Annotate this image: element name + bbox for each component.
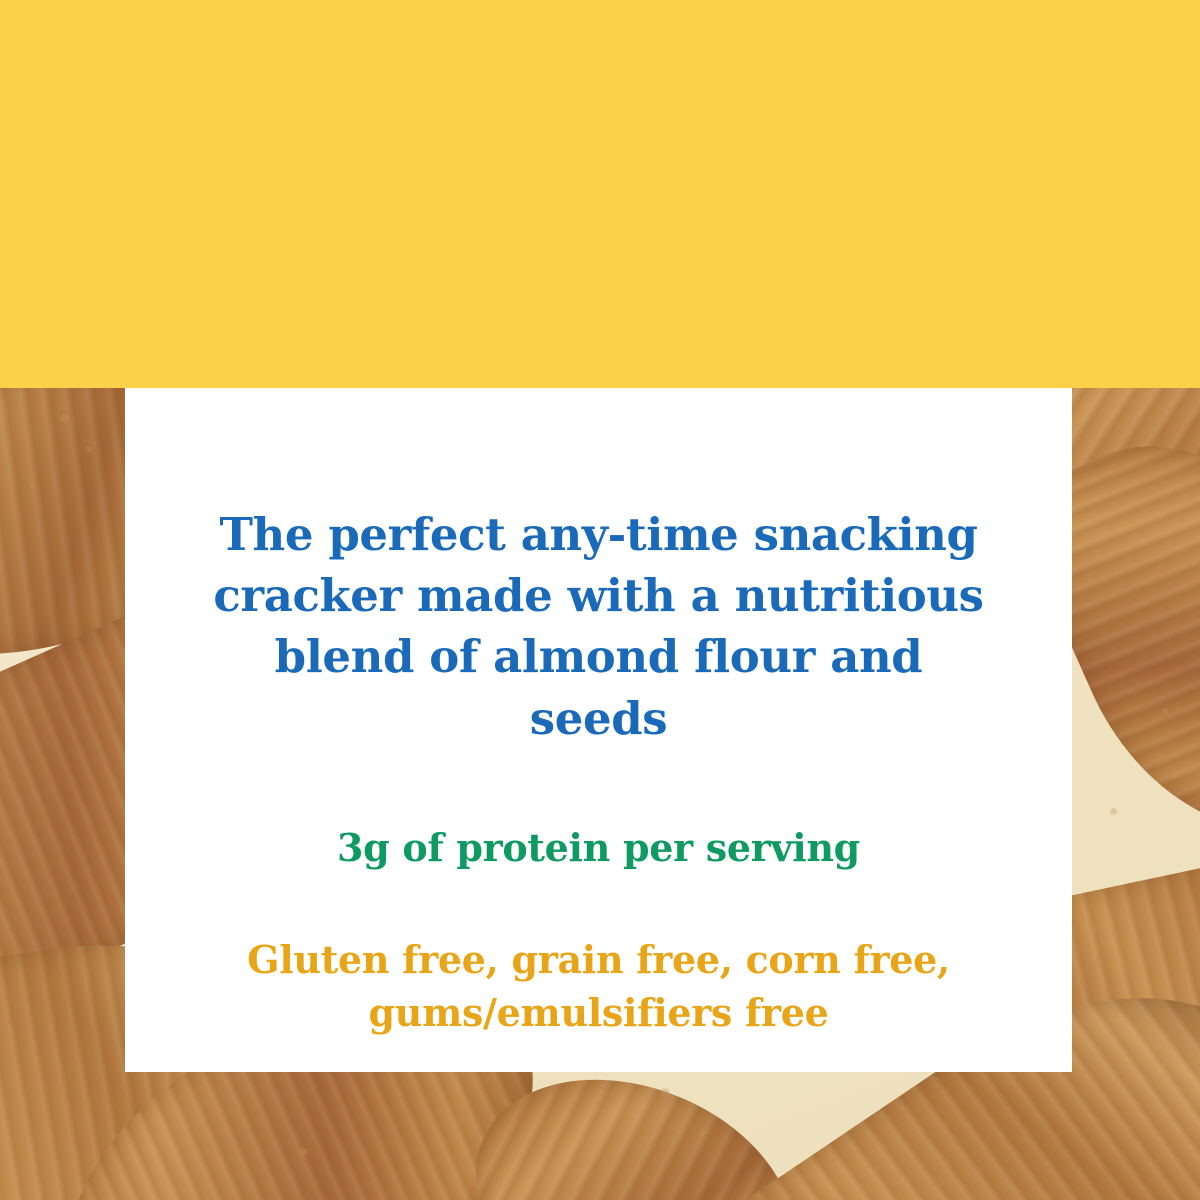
product-feature-panel: Only purposeful ingredients. Nothing art…	[0, 0, 1200, 1200]
main-claim-line-2: cracker made with a nutritious	[199, 565, 999, 626]
texture-speck	[300, 1148, 308, 1156]
texture-speck	[1162, 708, 1168, 714]
texture-speck	[60, 414, 69, 423]
protein-claim-line-1: 3g of protein per serving	[337, 823, 860, 872]
main-claim-text: The perfect any-time snacking cracker ma…	[199, 504, 999, 749]
free-from-claim-line-1: Gluten free, grain free, corn free,	[189, 934, 1009, 986]
free-from-claim-line-2: gums/emulsifiers free	[189, 987, 1009, 1039]
texture-speck	[700, 1130, 706, 1136]
texture-speck	[1110, 808, 1117, 815]
free-from-claim-text: Gluten free, grain free, corn free, gums…	[189, 934, 1009, 1039]
main-claim-line-3: blend of almond flour and seeds	[199, 626, 999, 748]
protein-claim-text: 3g of protein per serving	[337, 823, 860, 872]
texture-speck	[30, 484, 35, 489]
texture-speck	[86, 446, 92, 452]
texture-speck	[660, 1088, 670, 1098]
benefits-card: The perfect any-time snacking cracker ma…	[125, 388, 1072, 1072]
main-claim-line-1: The perfect any-time snacking	[199, 504, 999, 565]
texture-speck	[1140, 538, 1148, 546]
headline-banner	[0, 0, 1200, 388]
